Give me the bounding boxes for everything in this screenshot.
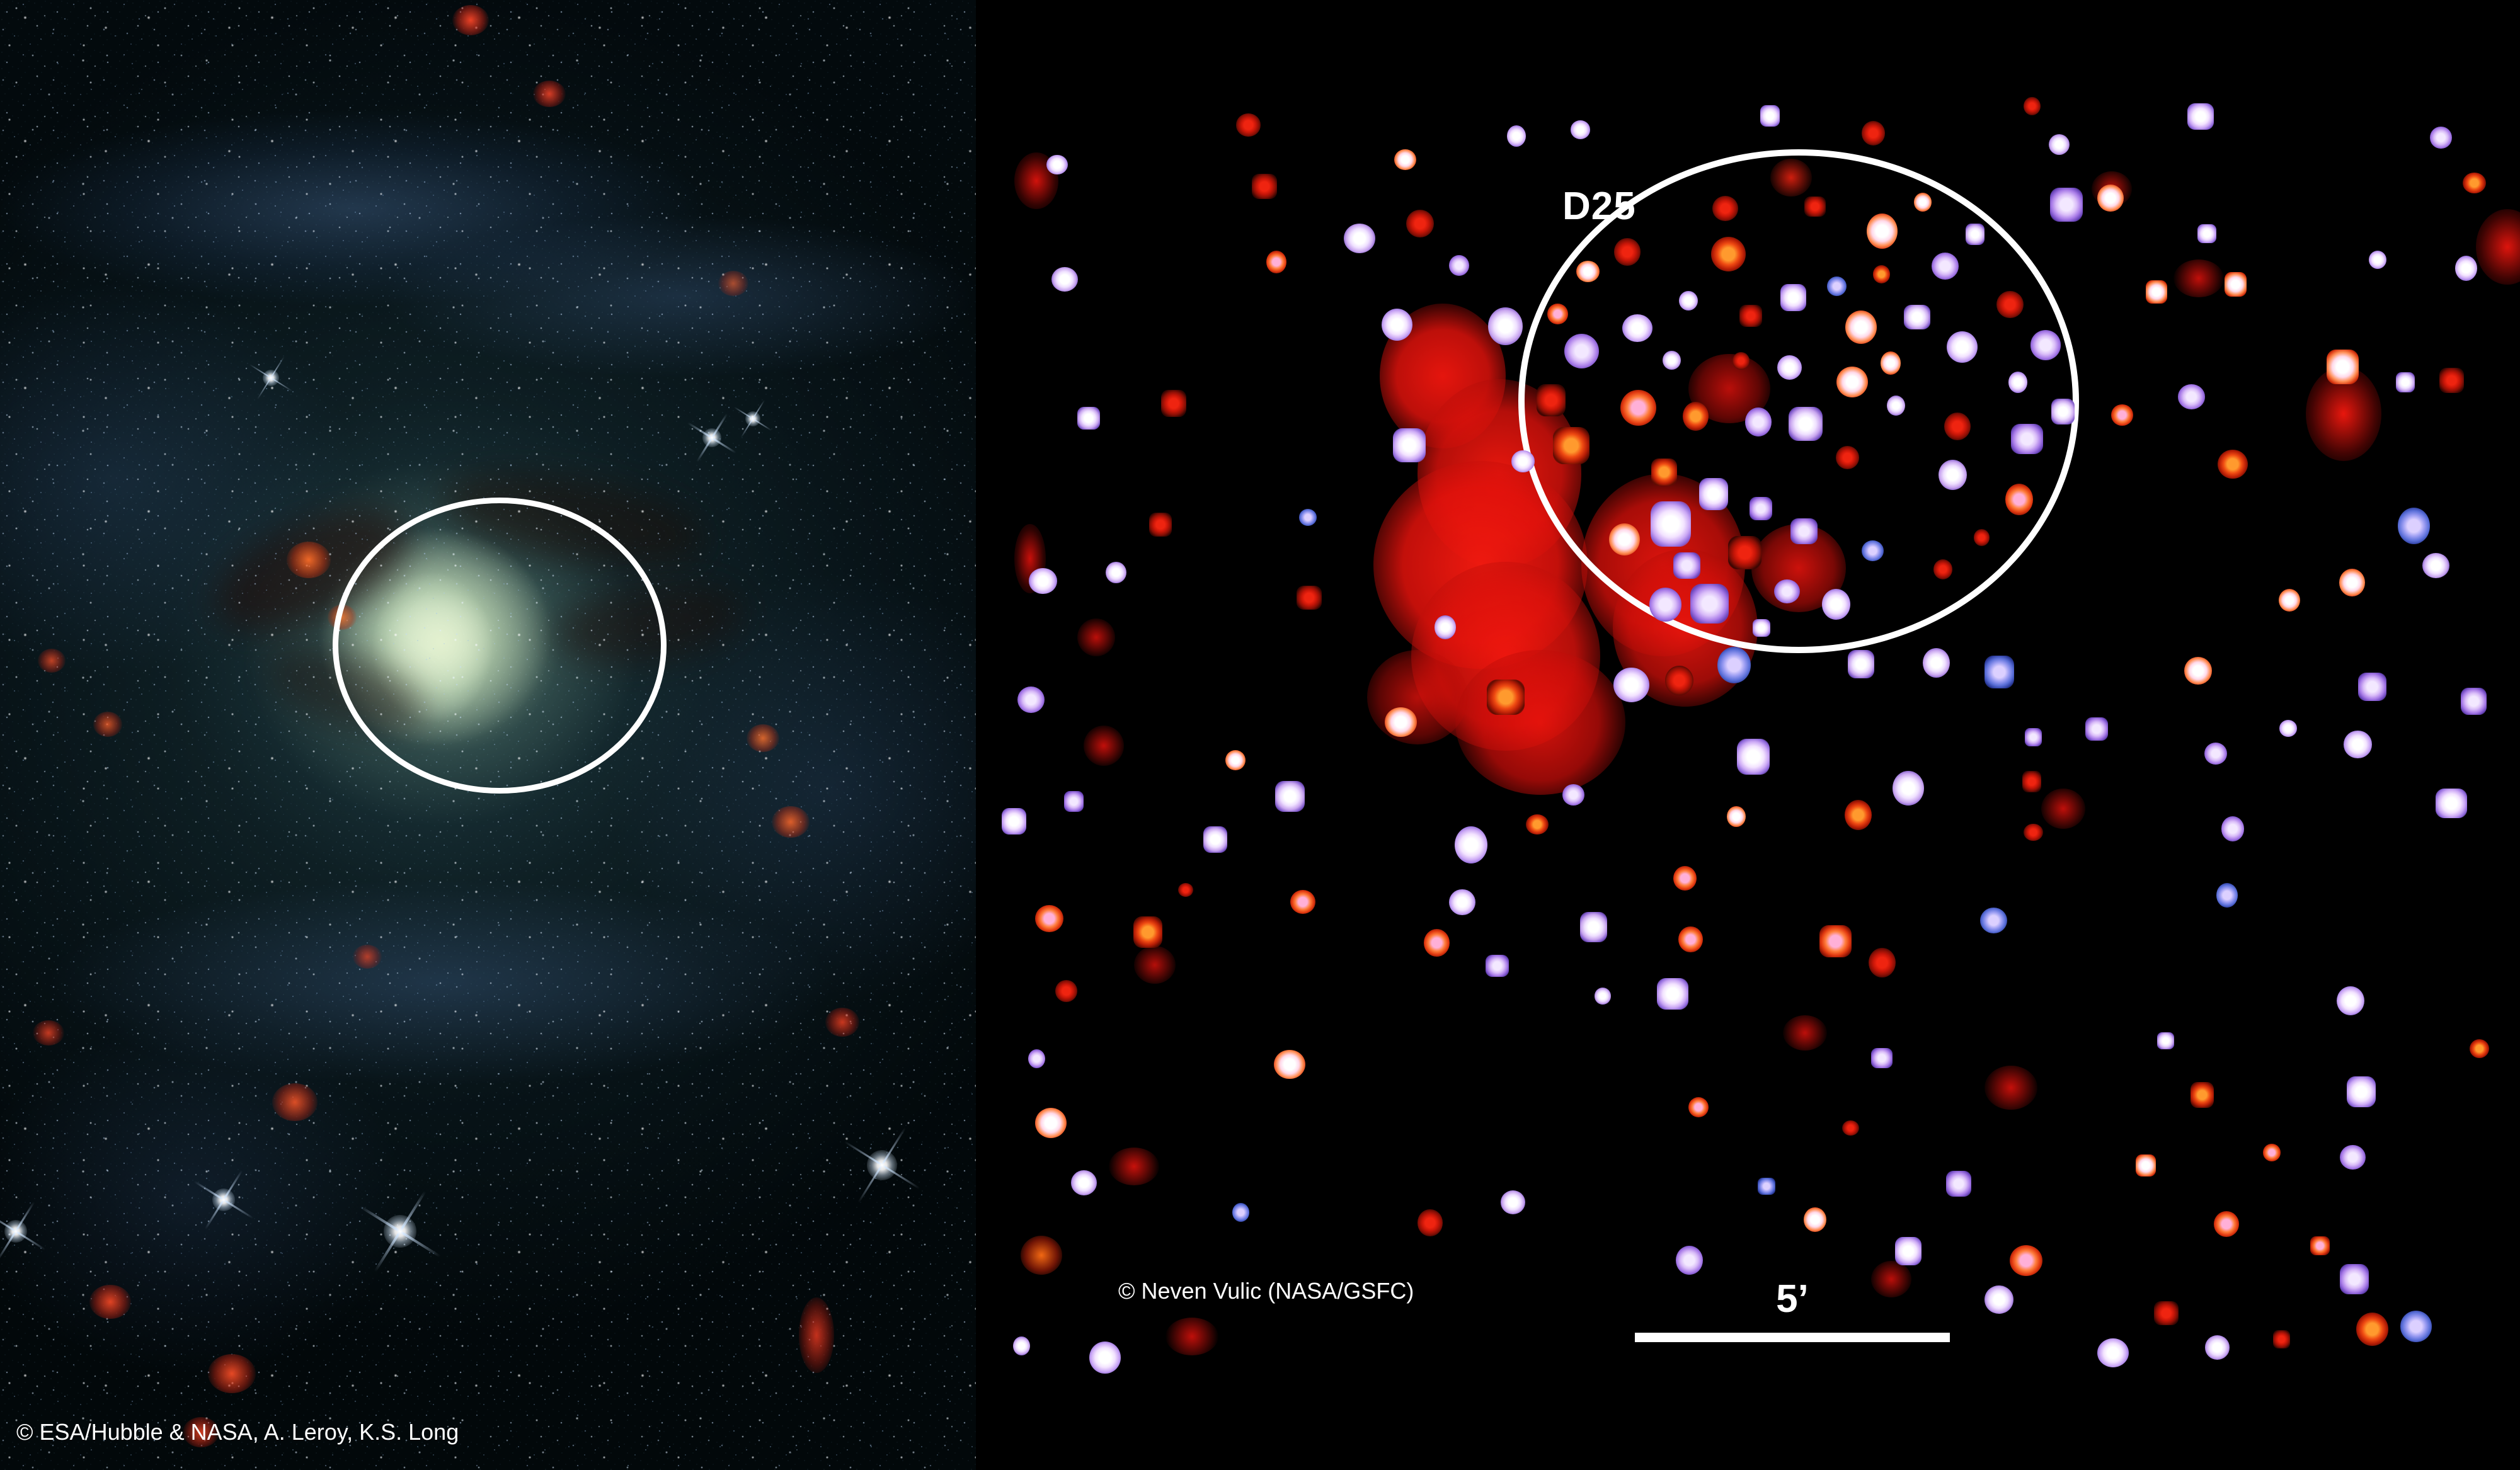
optical-credit: © ESA/Hubble & NASA, A. Leroy, K.S. Long	[16, 1421, 459, 1444]
scale-bar: 5’	[1635, 1280, 1950, 1342]
d25-label: D25	[1562, 187, 1636, 226]
scale-bar-line	[1635, 1333, 1950, 1342]
figure-root: © ESA/Hubble & NASA, A. Leroy, K.S. Long	[0, 0, 2520, 1470]
d25-ellipse-optical	[333, 498, 667, 794]
scale-bar-label: 5’	[1635, 1280, 1950, 1319]
chandra-xray-image: D25 5’ © Neven Vulic (NASA/GSFC)	[976, 83, 2520, 1382]
xray-credit: © Neven Vulic (NASA/GSFC)	[1118, 1280, 1414, 1302]
hubble-optical-image: © ESA/Hubble & NASA, A. Leroy, K.S. Long	[0, 0, 976, 1470]
